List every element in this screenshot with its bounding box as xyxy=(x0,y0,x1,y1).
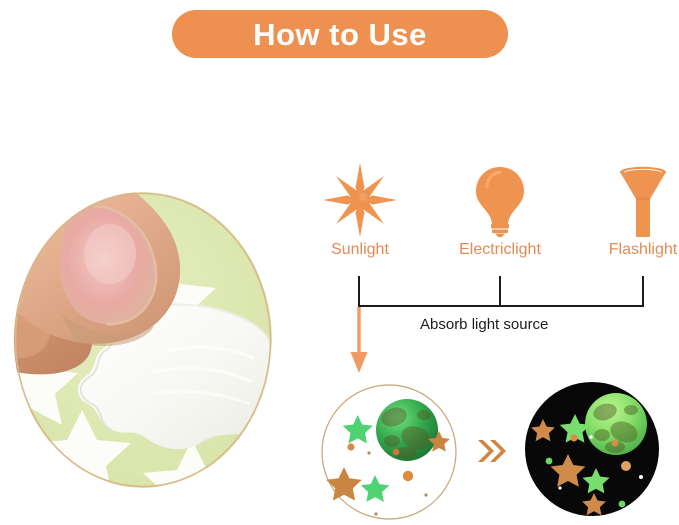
absorb-light-source-caption: Absorb light source xyxy=(420,316,548,333)
lightbulb-icon xyxy=(440,165,560,237)
page-title-banner: How to Use xyxy=(172,10,508,58)
flashlight-icon xyxy=(583,165,679,237)
light-source-label-sunlight: Sunlight xyxy=(300,241,420,259)
light-source-electriclight: Electriclight xyxy=(440,165,560,259)
double-chevron-right-icon xyxy=(477,438,509,464)
light-source-label-flashlight: Flashlight xyxy=(583,241,679,259)
how-to-use-infographic: How to Use xyxy=(0,0,679,525)
sun-icon xyxy=(300,165,420,237)
thumb-peeling-star-stickers-photo xyxy=(14,192,272,488)
result-circle-dark xyxy=(523,380,661,518)
result-circle-light xyxy=(320,383,458,521)
light-source-flashlight: Flashlight xyxy=(583,165,679,259)
absorb-down-arrow-icon xyxy=(346,305,374,375)
light-sources-row: Sunlight Electriclight xyxy=(300,165,679,275)
page-title: How to Use xyxy=(253,19,427,50)
light-source-label-electriclight: Electriclight xyxy=(440,241,560,259)
light-source-sunlight: Sunlight xyxy=(300,165,420,259)
